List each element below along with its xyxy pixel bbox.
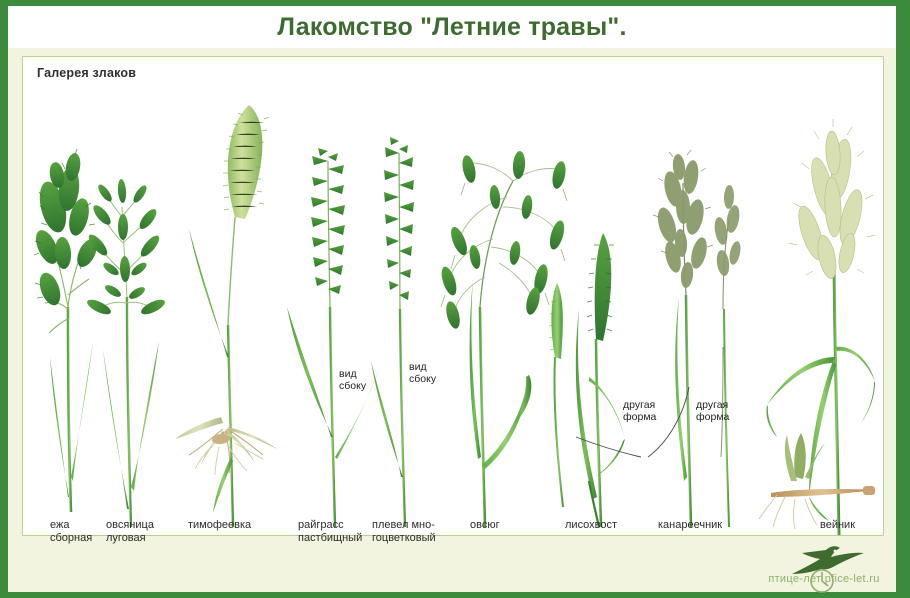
label-plevel-mnogotsvetkovyy: плевел мно- гоцветковый <box>372 519 436 545</box>
specimen-calamagrostis <box>759 119 875 535</box>
label-kanareechnik: канареечник <box>658 519 722 532</box>
poster-root: Лакомство "Летние травы". Галерея злаков <box>0 0 910 598</box>
phleum-dry-base <box>175 417 277 475</box>
grass-illustrations <box>23 57 884 536</box>
annotation-drugaya-forma-2: другая форма <box>696 399 729 423</box>
page-title: Лакомство "Летние травы". <box>8 6 896 48</box>
annotation-vid-sboku-2: вид сбоку <box>409 361 436 385</box>
label-ovsyug: овсюг <box>470 519 500 532</box>
label-ovsyanitsa-lugovaya: овсяница луговая <box>106 519 154 545</box>
specimen-avena <box>439 151 568 527</box>
annotation-drugaya-forma-1: другая форма <box>623 399 656 423</box>
specimen-phalaris <box>648 150 742 527</box>
label-raygrass-pastbishchnyy: райграсс пастбищный <box>298 519 362 545</box>
specimen-lolium-perenne <box>287 148 379 527</box>
specimen-alopecurus <box>549 233 641 527</box>
specimen-festuca <box>85 179 167 527</box>
label-lisokhvost: лисохвост <box>565 519 617 532</box>
specimen-dactylis <box>31 149 100 512</box>
gallery-panel: Галерея злаков <box>22 56 884 536</box>
specimen-label-row: ежа сборная овсяница луговая тимофеевка … <box>22 519 884 559</box>
specimen-phleum <box>175 105 277 527</box>
specimen-lolium-multiflorum <box>371 137 414 527</box>
annotation-vid-sboku-1: вид сбоку <box>339 368 366 392</box>
label-ezha-sbornaya: ежа сборная <box>50 519 92 545</box>
label-veynik: вейник <box>820 519 855 532</box>
label-timofeevka: тимофеевка <box>188 519 251 532</box>
calamagrostis-rhizome <box>759 433 875 529</box>
